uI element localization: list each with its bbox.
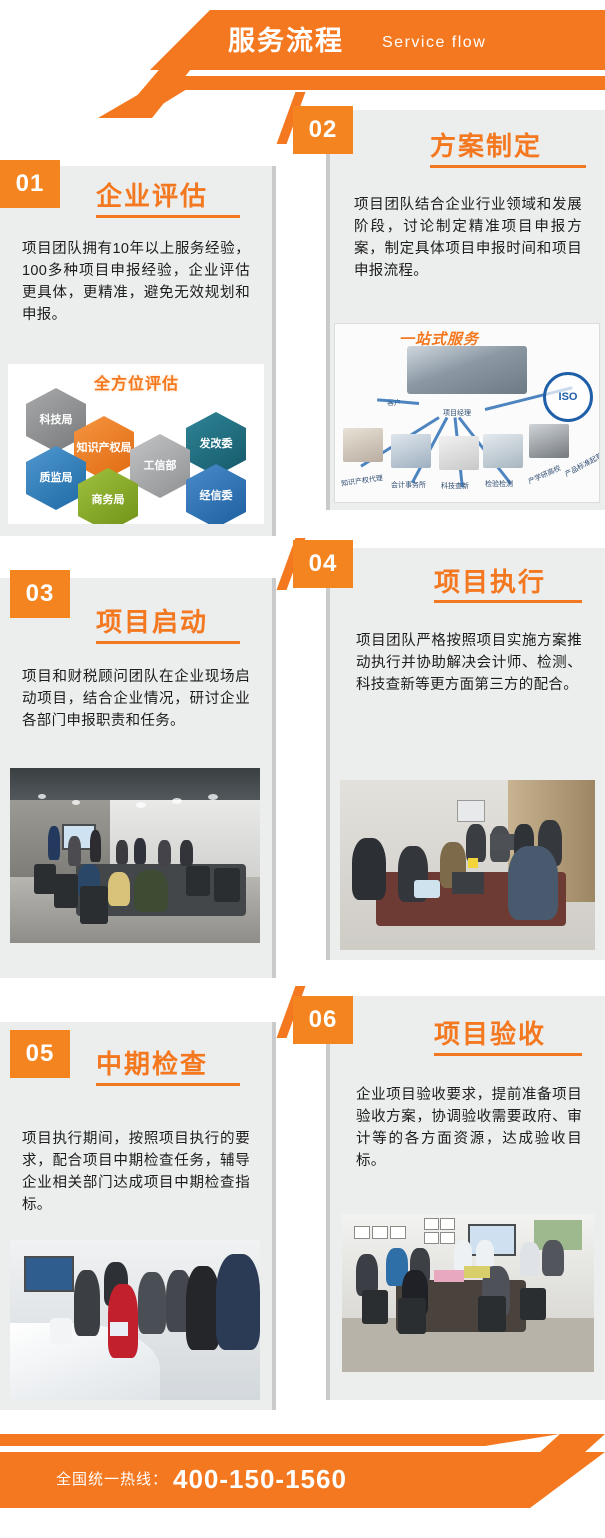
card-06-title-rule: [434, 1053, 582, 1056]
card-01-body: 项目团队拥有10年以上服务经验，100多种项目申报经验，企业评估更具体，更精准，…: [22, 238, 250, 326]
page-footer: 全国统一热线： 400-150-1560: [0, 1420, 605, 1538]
card-06-number: 06: [293, 996, 353, 1044]
hotline-label: 全国统一热线：: [56, 1464, 168, 1496]
card-05-title-rule: [96, 1083, 240, 1086]
node-inspection: [483, 434, 523, 468]
label-accounting-firm: 会计事务所: [391, 480, 426, 490]
header-underline: [150, 76, 605, 90]
one-stop-service-graphic: 一站式服务 客户 项目经理 ISO 知识产权代理 会计事务所 科技查新 检验检测…: [334, 323, 600, 503]
card-02[interactable]: 02 方案制定 项目团队结合企业行业领域和发展阶段，讨论制定精准项目申报方案，制…: [330, 110, 605, 510]
card-04[interactable]: 04 项目执行 项目团队严格按照项目实施方案推动执行并协助解决会计师、检测、科技…: [330, 548, 605, 960]
card-01-number: 01: [0, 160, 60, 208]
label-inspection: 检验检测: [485, 479, 513, 489]
card-02-title: 方案制定: [430, 126, 542, 163]
node-university: [529, 424, 569, 458]
card-02-number: 02: [293, 106, 353, 154]
label-tech-search: 科技查新: [441, 481, 469, 491]
card-05-body: 项目执行期间，按照项目执行的要求，配合项目中期检查任务，辅导企业相关部门达成项目…: [22, 1128, 250, 1216]
hexagon-graphic-title: 全方位评估: [94, 370, 179, 394]
photo-site-visit: [10, 1240, 260, 1400]
photo-conference-room: [10, 768, 260, 943]
card-04-title-rule: [434, 600, 582, 603]
card-04-number: 04: [293, 540, 353, 588]
card-01-title-rule: [96, 215, 240, 218]
card-06[interactable]: 06 项目验收 企业项目验收要求，提前准备项目验收方案，协调验收需要政府、审计等…: [330, 996, 605, 1400]
card-02-title-rule: [430, 165, 586, 168]
photo-acceptance-meeting: [342, 1214, 594, 1372]
one-stop-hub-photo: [407, 346, 527, 394]
card-05-number: 05: [10, 1030, 70, 1078]
card-02-body: 项目团队结合企业行业领域和发展阶段，讨论制定精准项目申报方案，制定具体项目申报时…: [354, 194, 582, 282]
card-03[interactable]: 03 项目启动 项目和财税顾问团队在企业现场启动项目，结合企业情况，研讨企业各部…: [0, 578, 272, 978]
iso-seal-icon: ISO: [543, 372, 593, 422]
card-04-body: 项目团队严格按照项目实施方案推动执行并协助解决会计师、检测、科技查新等更方面第三…: [356, 630, 582, 696]
card-04-title: 项目执行: [434, 562, 546, 599]
photo-working-meeting: [340, 780, 595, 950]
label-university: 产学研高校: [526, 463, 562, 486]
card-03-body: 项目和财税顾问团队在企业现场启动项目，结合企业情况，研讨企业各部门申报职责和任务…: [22, 666, 250, 732]
card-03-number: 03: [10, 570, 70, 618]
card-06-title: 项目验收: [434, 1014, 546, 1051]
header-banner: [150, 10, 605, 70]
label-ip-agency: 知识产权代理: [341, 473, 384, 489]
page-subtitle: Service flow: [382, 31, 486, 55]
page-header: 服务流程 Service flow: [0, 0, 605, 118]
node-tech-search: [439, 436, 479, 470]
page-title: 服务流程: [228, 20, 344, 62]
card-01[interactable]: 01 企业评估 项目团队拥有10年以上服务经验，100多种项目申报经验，企业评估…: [0, 166, 272, 536]
node-accounting-firm: [391, 434, 431, 468]
label-xiangmu-jingli: 项目经理: [443, 408, 471, 418]
hex-shangwu-ju: 商务局: [78, 468, 138, 524]
card-03-title-rule: [96, 641, 240, 644]
node-ip-agency: [343, 428, 383, 462]
hexagon-assessment-graphic: 全方位评估 科技局 知识产权局 发改委 质监局 工信部 商务局 经信委: [8, 364, 264, 524]
hex-gongxin-bu: 工信部: [130, 434, 190, 498]
hex-jingxin-wei: 经信委: [186, 464, 246, 524]
hotline-number[interactable]: 400-150-1560: [173, 1459, 347, 1499]
card-05-title: 中期检查: [96, 1044, 208, 1081]
card-06-body: 企业项目验收要求，提前准备项目验收方案，协调验收需要政府、审计等的各方面资源，达…: [356, 1084, 582, 1172]
card-05[interactable]: 05 中期检查 项目执行期间，按照项目执行的要求，配合项目中期检查任务，辅导企业…: [0, 1022, 272, 1410]
card-03-title: 项目启动: [96, 602, 208, 639]
footer-topline: [0, 1434, 605, 1446]
card-01-title: 企业评估: [96, 176, 208, 213]
